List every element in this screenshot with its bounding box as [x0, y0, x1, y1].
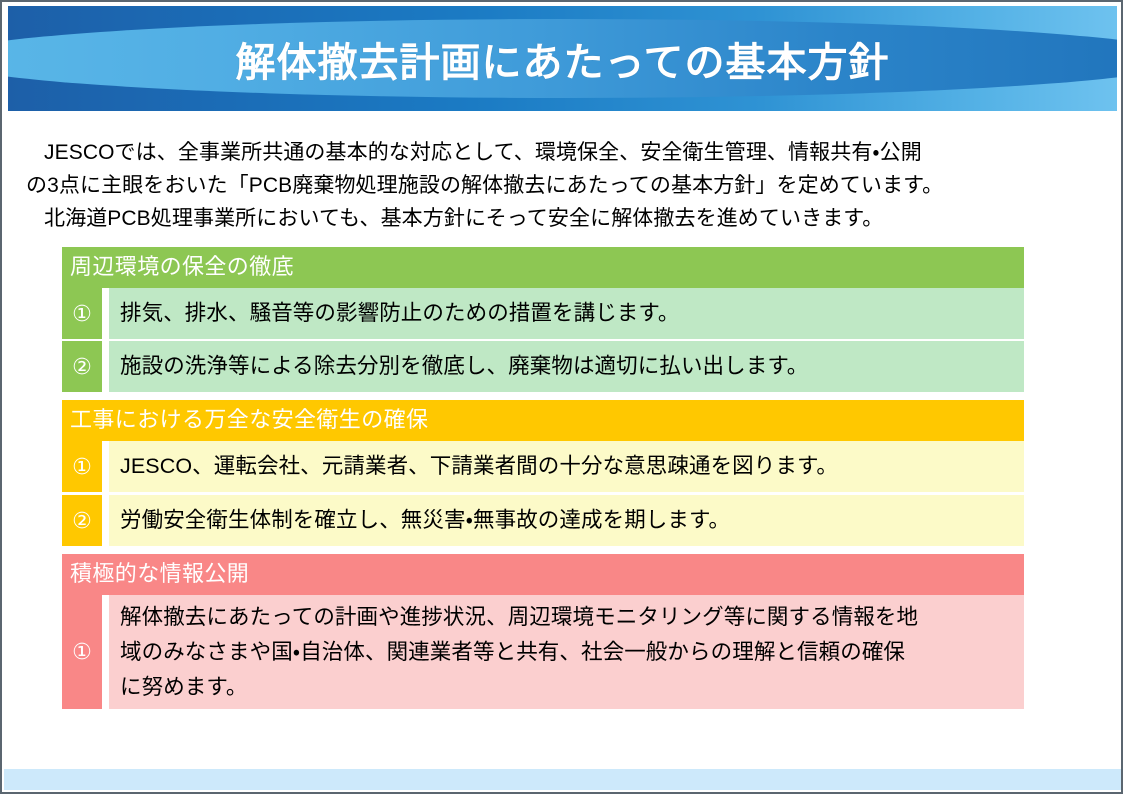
disclosure-line-3: に努めます。 — [120, 670, 918, 705]
text-column-environment: 排気、排水、騒音等の影響防止のための措置を講じます。 施設の洗浄等による除去分別… — [109, 288, 1024, 392]
disclosure-line-1: 解体撤去にあたっての計画や進捗状況、周辺環境モニタリング等に関する情報を地 — [120, 600, 918, 635]
section-rows-safety: ① ② JESCO、運転会社、元請業者、下請業者間の十分な意思疎通を図ります。 … — [62, 441, 1024, 546]
table-row: 解体撤去にあたっての計画や進捗状況、周辺環境モニタリング等に関する情報を地 域の… — [109, 595, 1024, 709]
section-header-disclosure: 積極的な情報公開 — [62, 554, 1024, 595]
section-rows-disclosure: ① 解体撤去にあたっての計画や進捗状況、周辺環境モニタリング等に関する情報を地 … — [62, 595, 1024, 709]
slide-title: 解体撤去計画にあたっての基本方針 — [8, 6, 1117, 111]
number-column-environment: ① ② — [62, 288, 102, 392]
footer-bar — [4, 769, 1121, 790]
text-column-safety: JESCO、運転会社、元請業者、下請業者間の十分な意思疎通を図ります。 労働安全… — [109, 441, 1024, 546]
table-row-text: 解体撤去にあたっての計画や進捗状況、周辺環境モニタリング等に関する情報を地 域の… — [120, 600, 918, 705]
row-number: ① — [62, 441, 102, 492]
section-rows-environment: ① ② 排気、排水、騒音等の影響防止のための措置を講じます。 施設の洗浄等による… — [62, 288, 1024, 392]
table-row: 施設の洗浄等による除去分別を徹底し、廃棄物は適切に払い出します。 — [109, 341, 1024, 392]
intro-line-1: JESCOでは、全事業所共通の基本的な対応として、環境保全、安全衛生管理、情報共… — [26, 136, 1101, 169]
policy-section-safety: 工事における万全な安全衛生の確保 ① ② JESCO、運転会社、元請業者、下請業… — [62, 400, 1024, 546]
row-number: ① — [62, 595, 102, 709]
section-header-safety: 工事における万全な安全衛生の確保 — [62, 400, 1024, 441]
intro-line-2: の3点に主眼をおいた「PCB廃棄物処理施設の解体撤去にあたっての基本方針」を定め… — [26, 169, 1101, 202]
intro-line-3: 北海道PCB処理事業所においても、基本方針にそって安全に解体撤去を進めていきます… — [26, 202, 1101, 235]
slide: 解体撤去計画にあたっての基本方針 JESCOでは、全事業所共通の基本的な対応とし… — [0, 0, 1123, 794]
row-number: ② — [62, 341, 102, 392]
text-column-disclosure: 解体撤去にあたっての計画や進捗状況、周辺環境モニタリング等に関する情報を地 域の… — [109, 595, 1024, 709]
row-number: ② — [62, 495, 102, 546]
section-header-environment: 周辺環境の保全の徹底 — [62, 247, 1024, 288]
disclosure-line-2: 域のみなさまや国・自治体、関連業者等と共有、社会一般からの理解と信頼の確保 — [120, 635, 918, 670]
row-number: ① — [62, 288, 102, 339]
table-row: 労働安全衛生体制を確立し、無災害・無事故の達成を期します。 — [109, 495, 1024, 546]
number-column-disclosure: ① — [62, 595, 102, 709]
table-row: 排気、排水、騒音等の影響防止のための措置を講じます。 — [109, 288, 1024, 339]
table-row: JESCO、運転会社、元請業者、下請業者間の十分な意思疎通を図ります。 — [109, 441, 1024, 492]
policy-table: 周辺環境の保全の徹底 ① ② 排気、排水、騒音等の影響防止のための措置を講じます… — [62, 247, 1024, 709]
number-column-safety: ① ② — [62, 441, 102, 546]
policy-section-environment: 周辺環境の保全の徹底 ① ② 排気、排水、騒音等の影響防止のための措置を講じます… — [62, 247, 1024, 392]
title-banner: 解体撤去計画にあたっての基本方針 — [8, 6, 1117, 111]
policy-section-disclosure: 積極的な情報公開 ① 解体撤去にあたっての計画や進捗状況、周辺環境モニタリング等… — [62, 554, 1024, 709]
intro-paragraph: JESCOでは、全事業所共通の基本的な対応として、環境保全、安全衛生管理、情報共… — [26, 136, 1101, 235]
